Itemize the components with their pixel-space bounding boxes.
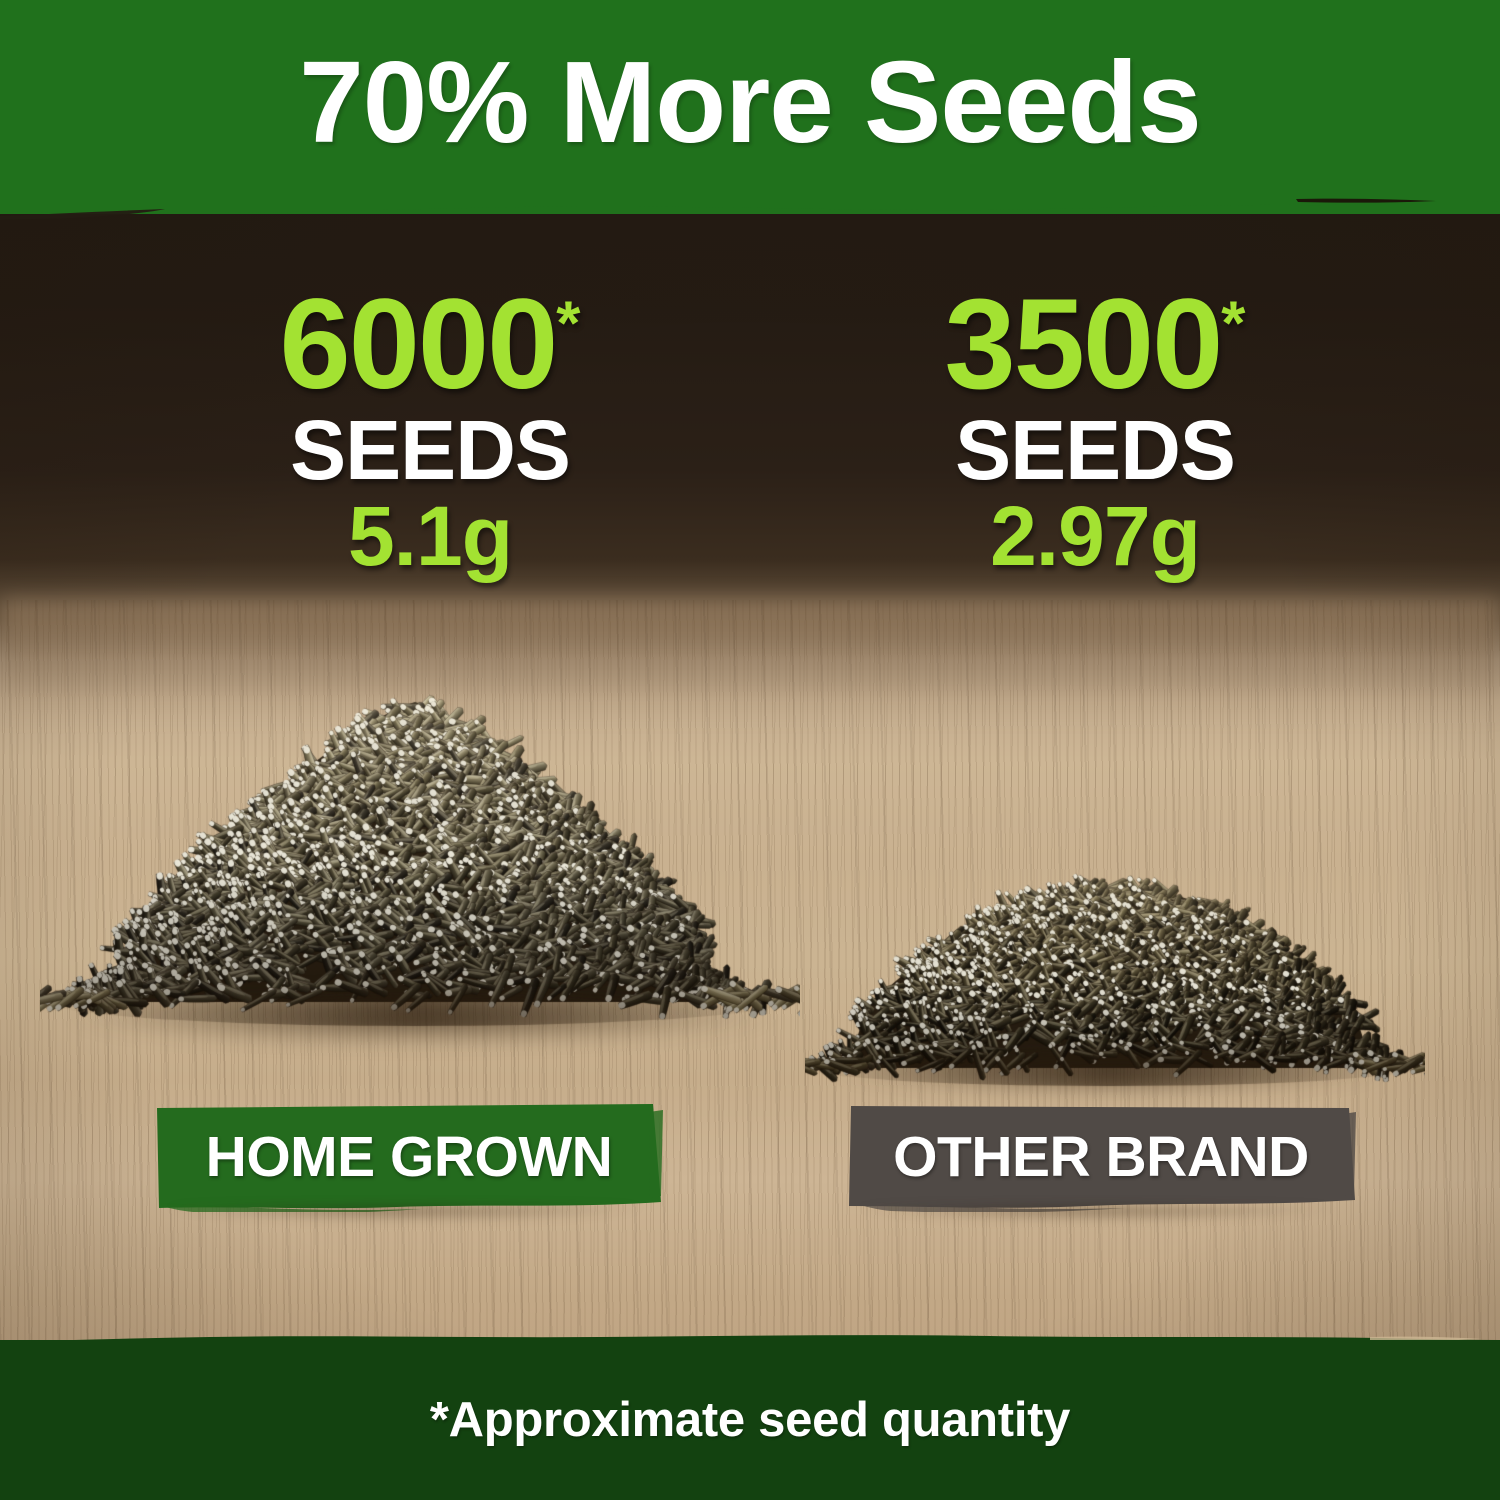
footnote: *Approximate seed quantity <box>0 1392 1500 1448</box>
brand-label-left: HOME GROWN <box>153 1102 665 1212</box>
asterisk-left: * <box>556 289 580 358</box>
seed-weight-right: 2.97g <box>775 494 1415 578</box>
seed-pile-home-grown <box>40 650 800 1050</box>
asterisk-right: * <box>1221 289 1245 358</box>
seed-count-right-value: 3500 <box>945 273 1222 416</box>
product-comparison-infographic: 70% More Seeds 6000* SEEDS 5.1g 3500* SE… <box>0 0 1500 1500</box>
stat-block-other-brand: 3500* SEEDS 2.97g <box>775 286 1415 578</box>
page-title: 70% More Seeds <box>0 44 1500 160</box>
brand-label-right: OTHER BRAND <box>845 1102 1357 1212</box>
seed-count-right: 3500* <box>775 286 1415 404</box>
brand-badge-home-grown: HOME GROWN <box>153 1102 665 1212</box>
seed-pile-shadow <box>60 988 780 1046</box>
seed-pile-shadow <box>829 1048 1389 1094</box>
brand-badge-other-brand: OTHER BRAND <box>845 1102 1357 1212</box>
seed-count-left-value: 6000 <box>280 273 557 416</box>
seed-pile-other-brand <box>805 820 1425 1100</box>
header-brush-edge <box>0 180 1500 226</box>
seed-weight-left: 5.1g <box>110 494 750 578</box>
seed-unit-right: SEEDS <box>775 408 1415 492</box>
stat-block-home-grown: 6000* SEEDS 5.1g <box>110 286 750 578</box>
seed-count-left: 6000* <box>110 286 750 404</box>
seed-unit-left: SEEDS <box>110 408 750 492</box>
